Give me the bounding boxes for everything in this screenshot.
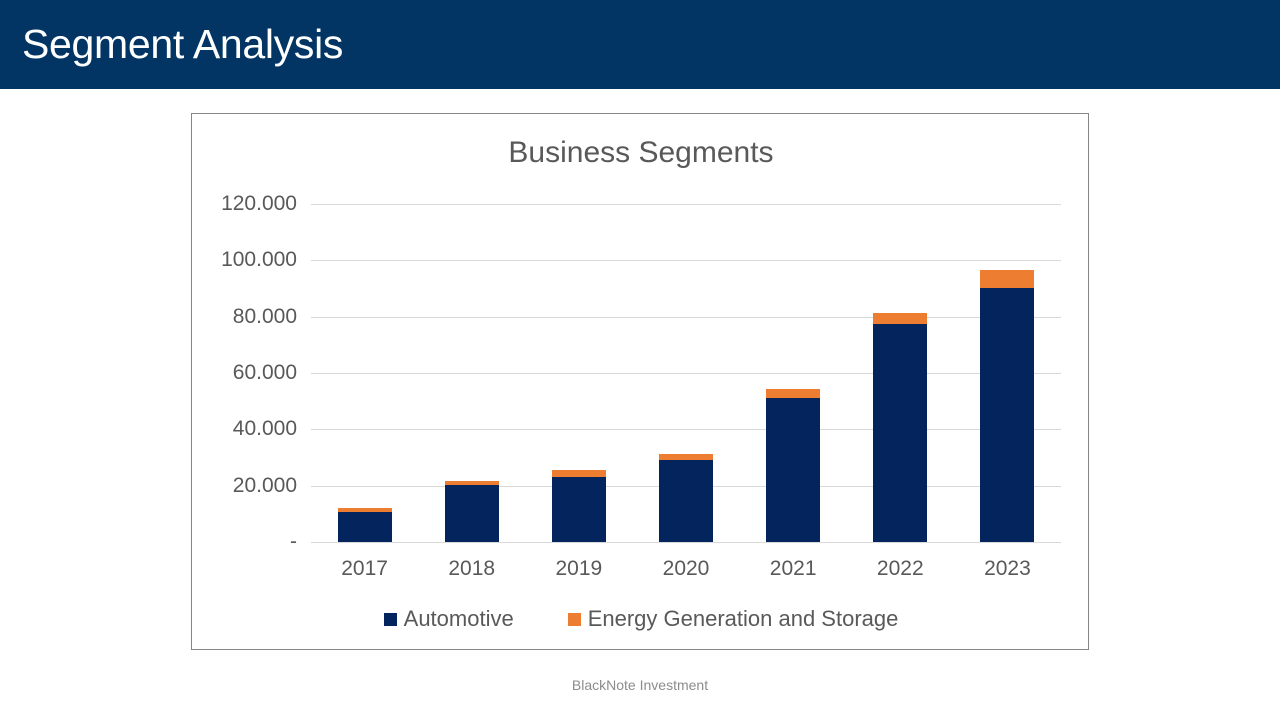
header-bar: Segment Analysis: [0, 0, 1280, 89]
bar-segment-energy-generation-and-storage[interactable]: [445, 481, 499, 486]
y-axis-labels: 120.000100.00080.00060.00040.00020.000-: [177, 204, 297, 542]
bar-segment-energy-generation-and-storage[interactable]: [980, 270, 1034, 288]
bar-segment-energy-generation-and-storage[interactable]: [766, 389, 820, 398]
bar-segment-automotive[interactable]: [552, 477, 606, 542]
bar-segment-automotive[interactable]: [980, 288, 1034, 542]
x-axis-tick-label: 2021: [738, 557, 848, 581]
y-axis-tick-label: 120.000: [177, 192, 297, 216]
chart-legend: AutomotiveEnergy Generation and Storage: [192, 606, 1090, 632]
bar-group[interactable]: [338, 204, 392, 542]
y-axis-tick-label: 80.000: [177, 305, 297, 329]
legend-item[interactable]: Energy Generation and Storage: [568, 606, 899, 632]
legend-item[interactable]: Automotive: [384, 606, 514, 632]
x-axis-tick-label: 2018: [417, 557, 527, 581]
axis-zero-line: [311, 542, 1061, 543]
y-axis-tick-label: 100.000: [177, 248, 297, 272]
bar-segment-energy-generation-and-storage[interactable]: [659, 454, 713, 460]
plot-area: [311, 204, 1061, 542]
x-axis-tick-label: 2020: [631, 557, 741, 581]
legend-label: Automotive: [404, 606, 514, 632]
bar-segment-energy-generation-and-storage[interactable]: [552, 470, 606, 477]
y-axis-tick-label: 60.000: [177, 361, 297, 385]
bar-group[interactable]: [445, 204, 499, 542]
bar-group[interactable]: [552, 204, 606, 542]
bar-segment-automotive[interactable]: [766, 398, 820, 542]
legend-swatch-icon: [384, 613, 397, 626]
bar-segment-automotive[interactable]: [873, 324, 927, 542]
bar-group[interactable]: [659, 204, 713, 542]
bar-segment-automotive[interactable]: [659, 460, 713, 542]
legend-label: Energy Generation and Storage: [588, 606, 899, 632]
bar-segment-energy-generation-and-storage[interactable]: [873, 313, 927, 324]
x-axis-tick-label: 2017: [310, 557, 420, 581]
x-axis-tick-label: 2019: [524, 557, 634, 581]
legend-swatch-icon: [568, 613, 581, 626]
bar-group[interactable]: [980, 204, 1034, 542]
x-axis-tick-label: 2022: [845, 557, 955, 581]
bar-group[interactable]: [766, 204, 820, 542]
page-title: Segment Analysis: [22, 17, 343, 71]
y-axis-tick-label: 40.000: [177, 417, 297, 441]
chart-title: Business Segments: [192, 136, 1090, 170]
x-axis-tick-label: 2023: [952, 557, 1062, 581]
bar-group[interactable]: [873, 204, 927, 542]
bar-segment-automotive[interactable]: [338, 512, 392, 542]
footer-text: BlackNote Investment: [0, 677, 1280, 693]
y-axis-tick-label: 20.000: [177, 474, 297, 498]
bar-segment-energy-generation-and-storage[interactable]: [338, 508, 392, 512]
y-axis-tick-label: -: [177, 530, 297, 554]
bar-segment-automotive[interactable]: [445, 485, 499, 542]
chart-frame: Business Segments 120.000100.00080.00060…: [191, 113, 1089, 650]
